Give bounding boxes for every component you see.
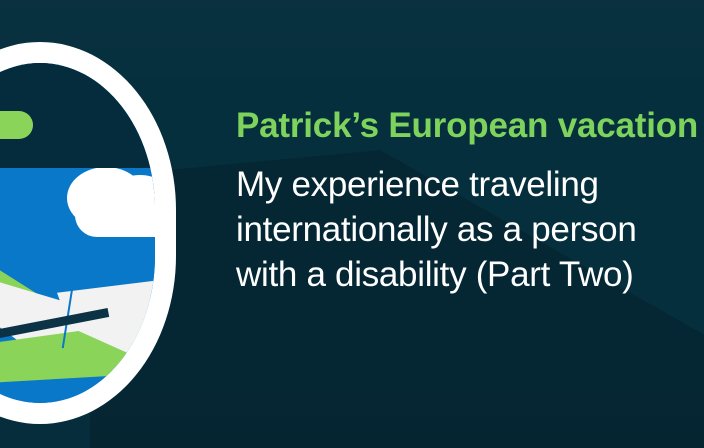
banner-text-block: Patrick’s European vacation My experienc… xyxy=(236,104,704,297)
subheadline-line-2: internationally as a person xyxy=(236,207,704,252)
airplane-window-illustration xyxy=(0,42,176,424)
headline: Patrick’s European vacation xyxy=(236,104,704,148)
shade-pull-tab xyxy=(0,111,33,139)
subheadline-line-3: with a disability (Part Two) xyxy=(236,252,704,297)
subheadline-line-1: My experience traveling xyxy=(236,162,704,207)
window-viewport xyxy=(0,63,155,403)
cloud-upper-right-base xyxy=(75,193,155,237)
flap-bar-lower xyxy=(102,391,155,403)
window-shade-panel xyxy=(0,63,155,168)
banner-canvas: Patrick’s European vacation My experienc… xyxy=(0,0,704,448)
subheadline: My experience traveling internationally … xyxy=(236,148,704,297)
